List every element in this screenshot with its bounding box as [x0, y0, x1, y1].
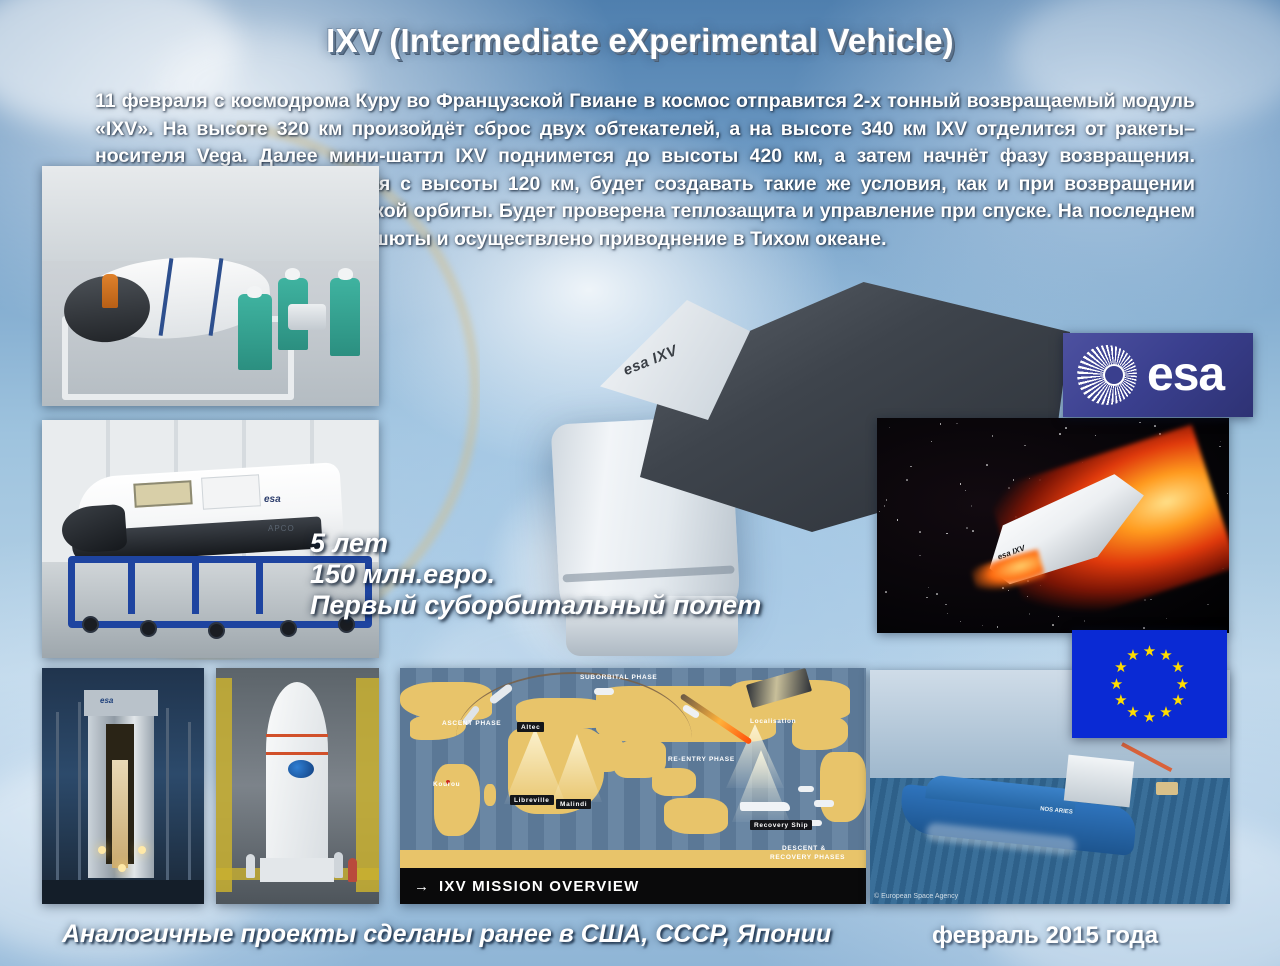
eu-star-icon: ★ [1159, 705, 1174, 720]
trolley-crossbar [192, 556, 199, 614]
ship-superstructure [1064, 755, 1134, 808]
eu-star-icon: ★ [1109, 677, 1124, 692]
presentation-slide: esa IXV IXV (Intermediate eXperimental V… [0, 0, 1280, 966]
map-footer-title: IXV MISSION OVERVIEW [439, 878, 639, 895]
technician [348, 858, 357, 882]
technician [330, 278, 360, 356]
star-icon [1219, 446, 1221, 448]
lightning-mast [188, 722, 191, 880]
overlay-stat-duration: 5 лет [310, 528, 761, 559]
esa-logo-on-hull: esa [264, 494, 281, 505]
star-icon [928, 587, 930, 589]
map-label: Localisation [750, 718, 796, 725]
star-icon [926, 597, 928, 599]
overlay-stats: 5 лет 150 млн.евро. Первый суборбитальны… [310, 528, 761, 621]
eu-star-icon: ★ [1171, 660, 1186, 675]
star-icon [940, 423, 942, 425]
photo-copyright: © European Space Agency [874, 893, 958, 900]
star-icon [966, 527, 968, 529]
star-icon [1143, 627, 1145, 629]
landmass-south-america [484, 784, 496, 806]
landmass-south-america-right [820, 752, 866, 822]
map-label: Malindi [556, 799, 591, 809]
star-icon [919, 531, 921, 533]
slide-title: IXV (Intermediate eXperimental Vehicle) [326, 22, 954, 60]
star-icon [971, 505, 973, 507]
eu-star-icon: ★ [1175, 677, 1190, 692]
star-icon [1150, 599, 1152, 601]
trolley-crossbar [128, 556, 135, 614]
star-icon [986, 464, 988, 466]
star-icon [956, 423, 958, 425]
support-vessel-icon [798, 786, 814, 792]
star-icon [884, 505, 886, 507]
esa-logo: esa [1063, 333, 1253, 417]
star-icon [1220, 441, 1222, 443]
star-icon [965, 490, 967, 492]
star-icon [960, 621, 962, 623]
eu-star-icon: ★ [1142, 644, 1157, 659]
landmass-south-america [434, 764, 480, 836]
technician-background [102, 274, 118, 308]
star-icon [1059, 433, 1061, 435]
european-union-flag: ★★★★★★★★★★★★ [1072, 630, 1227, 738]
star-icon [1084, 620, 1086, 622]
cleanroom-wall [42, 166, 379, 261]
photo-ixv-mission-overview-map: ASCENT PHASESUBORBITAL PHASERE-ENTRY PHA… [400, 668, 866, 904]
landmass-australia [664, 798, 728, 834]
trolley-caster [280, 620, 297, 637]
pad-apron [42, 880, 204, 904]
star-icon [982, 625, 984, 627]
fairing-band [266, 752, 328, 755]
lightning-mast [78, 702, 81, 880]
map-label: Recovery Ship [750, 820, 812, 830]
star-icon [1095, 435, 1097, 437]
star-icon [886, 499, 888, 501]
technician [246, 854, 255, 878]
photo-ixv-reentry-render: esa IXV [877, 418, 1229, 633]
star-icon [1065, 427, 1067, 429]
trolley-crossbar [256, 556, 263, 614]
star-icon [1013, 479, 1015, 481]
footer-date: февраль 2015 года [932, 922, 1158, 950]
overlay-stat-flight: Первый суборбитальный полет [310, 590, 761, 621]
hard-hat [285, 268, 300, 280]
hard-hat [247, 286, 262, 298]
star-icon [919, 555, 921, 557]
fairing-base-ring [260, 858, 334, 882]
ixv-icon-suborbital [594, 688, 614, 695]
overlay-stat-cost: 150 млн.евро. [310, 559, 761, 590]
star-icon [1166, 618, 1168, 620]
apco-logo-on-hull: APCO [268, 524, 295, 533]
world-map: ASCENT PHASESUBORBITAL PHASERE-ENTRY PHA… [400, 668, 866, 868]
lightning-mast [166, 708, 169, 880]
pad-floodlight [98, 846, 106, 854]
star-icon [946, 533, 948, 535]
map-label: Libreville [510, 795, 554, 805]
star-icon [960, 483, 962, 485]
star-icon [1227, 493, 1229, 495]
ascent-trajectory [456, 672, 692, 804]
hull-panel [201, 474, 261, 509]
star-icon [1144, 599, 1146, 601]
star-icon [1139, 422, 1141, 424]
hard-hat [338, 268, 353, 280]
star-icon [879, 511, 881, 513]
landmass-central-america [792, 716, 848, 750]
star-icon [889, 427, 891, 429]
esa-logo-on-gantry: esa [100, 696, 113, 705]
star-icon [945, 604, 947, 606]
technician [238, 294, 272, 370]
eu-star-icon: ★ [1126, 648, 1141, 663]
star-icon [972, 530, 974, 532]
star-icon [885, 591, 887, 593]
esa-swirl-icon [1077, 345, 1137, 405]
eu-star-icon: ★ [1113, 693, 1128, 708]
star-icon [947, 613, 949, 615]
trolley-caster [208, 622, 225, 639]
star-icon [906, 479, 908, 481]
lightning-mast [56, 712, 59, 880]
map-label: RE-ENTRY PHASE [668, 756, 735, 763]
equipment-module [288, 304, 326, 330]
star-icon [1008, 590, 1010, 592]
map-label: Altec [517, 722, 544, 732]
star-icon [936, 593, 938, 595]
pad-floodlight [138, 846, 146, 854]
star-icon [992, 435, 994, 437]
pad-floodlight [118, 864, 126, 872]
star-icon [897, 519, 899, 521]
eu-star-icon: ★ [1142, 710, 1157, 725]
mission-logo-decal [288, 760, 314, 778]
scaffolding [356, 678, 379, 892]
fairing-band [266, 734, 328, 737]
star-icon [931, 441, 933, 443]
star-icon [910, 466, 912, 468]
vega-launcher [112, 760, 128, 868]
map-label: SUBORBITAL PHASE [580, 674, 657, 681]
trolley-caster [82, 616, 99, 633]
map-label: RECOVERY PHASES [770, 854, 845, 861]
open-hatch [133, 480, 192, 507]
map-footer-bar: → IXV MISSION OVERVIEW [400, 868, 866, 904]
arrow-right-icon: → [414, 878, 429, 895]
map-label: DESCENT & [782, 845, 826, 852]
support-vessel-icon [814, 800, 834, 807]
star-icon [1024, 445, 1026, 447]
gantry-crown [84, 690, 158, 716]
star-icon [1207, 604, 1209, 606]
scaffolding [216, 678, 232, 892]
esa-wordmark: esa [1147, 347, 1224, 403]
star-icon [1154, 425, 1156, 427]
crane-load [1156, 782, 1178, 795]
map-label: ASCENT PHASE [442, 720, 501, 727]
star-icon [997, 626, 999, 628]
map-label: Kourou [433, 781, 460, 788]
recovery-ship-icon [740, 802, 790, 811]
trolley-caster [140, 620, 157, 637]
technician [334, 852, 343, 878]
title-band: IXV (Intermediate eXperimental Vehicle) [0, 22, 1280, 60]
footer-analogous-projects: Аналогичные проекты сделаны ранее в США,… [62, 920, 831, 949]
photo-nose-cone-integration [42, 166, 379, 406]
photo-vega-launch-gantry: esa [42, 668, 204, 904]
photo-vega-fairing-integration [216, 668, 379, 904]
